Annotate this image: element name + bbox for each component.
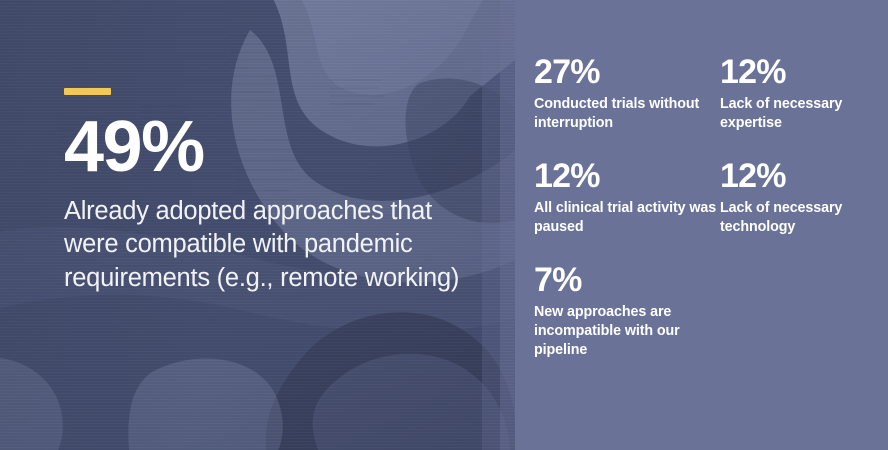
stat-value: 12% [720, 55, 888, 89]
infographic-root: 49% Already adopted approaches that were… [0, 0, 888, 450]
stat-incompatible-pipeline: 7% New approaches are incompatible with … [534, 263, 720, 386]
left-feature-panel: 49% Already adopted approaches that were… [0, 0, 515, 450]
headline-block: 49% Already adopted approaches that were… [64, 88, 484, 295]
stat-activity-paused: 12% All clinical trial activity was paus… [534, 159, 720, 263]
stat-value: 7% [534, 263, 720, 297]
stat-label: Conducted trials without interruption [534, 95, 720, 133]
stat-lack-of-technology: 12% Lack of necessary technology [720, 159, 888, 263]
stat-value: 27% [534, 55, 720, 89]
stat-conducted-trials: 27% Conducted trials without interruptio… [534, 55, 720, 159]
stat-label: All clinical trial activity was paused [534, 199, 720, 237]
stat-label: Lack of necessary technology [720, 199, 888, 237]
stat-lack-of-expertise: 12% Lack of necessary expertise [720, 55, 888, 159]
stat-label: New approaches are incompatible with our… [534, 303, 720, 360]
right-stats-panel: 27% Conducted trials without interruptio… [515, 0, 888, 450]
stats-row: 27% Conducted trials without interruptio… [534, 55, 888, 159]
stat-label: Lack of necessary expertise [720, 95, 888, 133]
stats-row: 7% New approaches are incompatible with … [534, 263, 888, 386]
gold-accent-bar [64, 88, 111, 95]
stat-value: 12% [534, 159, 720, 193]
headline-description: Already adopted approaches that were com… [64, 195, 464, 295]
stats-grid: 27% Conducted trials without interruptio… [534, 55, 888, 386]
stats-row: 12% All clinical trial activity was paus… [534, 159, 888, 263]
stat-value: 12% [720, 159, 888, 193]
headline-percentage: 49% [64, 117, 484, 179]
